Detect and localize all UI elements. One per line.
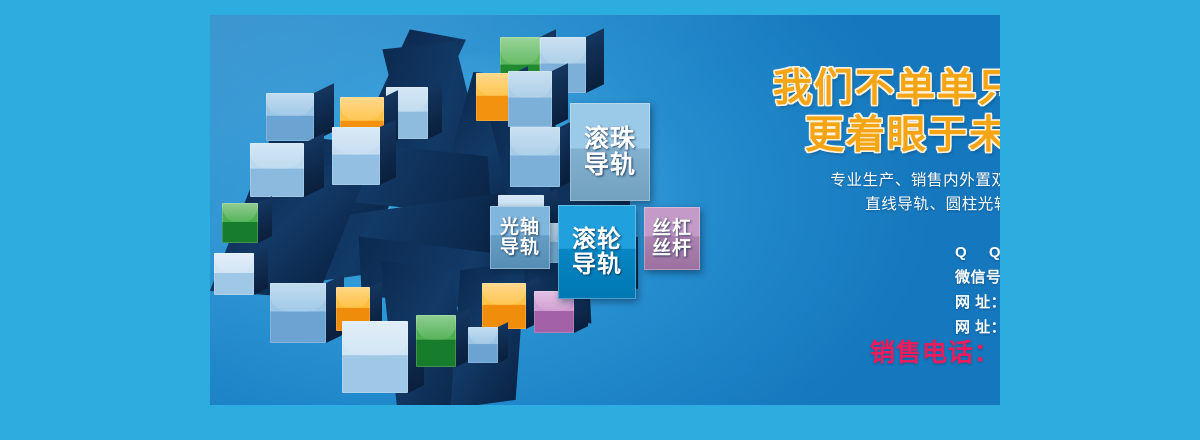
product-tile-label-line-1: 丝杠 (652, 219, 692, 239)
cube-side-face (258, 196, 272, 243)
cube-blue-11 (510, 127, 560, 187)
product-tile-optical-axis-guide[interactable]: 光轴导轨 (490, 206, 550, 269)
contact-row: 网 址：Www.Zxdgzc.Com (955, 291, 1000, 312)
cube-gloss (250, 143, 304, 169)
product-tile-label: 光轴导轨 (500, 218, 540, 258)
contact-row-key: Q Q ： (955, 241, 1000, 262)
product-tile-rolling-ball-guide[interactable]: 滚珠导轨 (570, 103, 650, 201)
sales-phone: 销售电话： 18357860469 (870, 333, 1000, 369)
description-block: 专业生产、销售内外置双轴心滚轮直线导轨、 滚珠直线导轨、圆柱光轴导轨、丝杠丝杆、… (830, 169, 1000, 241)
cube-side-face (428, 80, 442, 139)
contact-row-key: 微信号： (955, 266, 1000, 287)
product-tile-label-line-2: 导轨 (584, 152, 636, 178)
product-tile-label-line-2: 导轨 (572, 252, 622, 277)
cube-side-face (498, 322, 508, 363)
product-tile-label: 滚珠导轨 (584, 126, 636, 179)
description-line-1: 专业生产、销售内外置双轴心滚轮直线导轨、 (830, 172, 1000, 189)
cube-green-2 (222, 203, 258, 243)
cube-side-face (314, 83, 334, 141)
cube-side-face (380, 119, 396, 185)
cube-gloss (342, 321, 408, 356)
cube-side-face (304, 133, 324, 197)
cube-blue-8 (270, 283, 326, 343)
headline-line-1: 我们不单单只做您目前的订单 (773, 65, 1000, 112)
contact-row: 微信号：zxdgzc（直线导轨轴承） (955, 266, 1000, 287)
cube-blue-9 (342, 321, 408, 393)
cube-blue-3 (266, 93, 314, 141)
cube-gloss (270, 283, 326, 312)
cube-gloss (510, 127, 560, 156)
copy-column: 我们不单单只做您目前的订单 更着眼于未来与您长期合作 专业生产、销售内外置双轴心… (750, 45, 1000, 395)
exploding-cube-graphic: 滚珠导轨光轴导轨滚轮导轨丝杠丝杆 (210, 15, 640, 405)
contact-row: Q Q ：80286553 (955, 241, 1000, 262)
product-tile-label: 滚轮导轨 (572, 227, 622, 277)
cube-blue-6 (332, 127, 380, 185)
cube-side-face (586, 28, 604, 93)
headline-line-2: 更着眼于未来与您长期合作 (805, 112, 1000, 159)
cube-gloss (508, 71, 552, 98)
cube-blue-5 (508, 71, 552, 127)
cube-gloss (332, 127, 380, 155)
product-tile-label-line-1: 光轴 (500, 218, 540, 238)
product-tile-label-line-2: 丝杆 (652, 239, 692, 259)
cube-gloss (500, 37, 540, 65)
cube-gloss (340, 97, 384, 121)
product-tile-label-line-1: 滚轮 (572, 227, 622, 252)
banner-panel: 滚珠导轨光轴导轨滚轮导轨丝杠丝杆 我们不单单只做您目前的订单 更着眼于未来与您长… (210, 15, 1000, 405)
contact-block: Q Q ：80286553微信号：zxdgzc（直线导轨轴承）网 址：Www.Z… (955, 241, 1000, 341)
cube-blue-10 (468, 327, 498, 363)
cube-blue-4 (250, 143, 304, 197)
cube-gloss (540, 37, 586, 64)
sales-phone-label: 销售电话： (870, 333, 1000, 369)
cube-side-face (552, 63, 568, 127)
product-tile-roller-guide[interactable]: 滚轮导轨 (558, 205, 636, 299)
product-tile-label: 丝杠丝杆 (652, 219, 692, 259)
promo-banner: 滚珠导轨光轴导轨滚轮导轨丝杠丝杆 我们不单单只做您目前的订单 更着眼于未来与您长… (0, 0, 1200, 440)
product-tile-label-line-1: 滚珠 (584, 126, 636, 152)
description-line-3: 线轴承等。 (830, 217, 1000, 241)
cube-orange-4 (482, 283, 526, 329)
product-tile-screw-rod[interactable]: 丝杠丝杆 (644, 207, 700, 270)
cube-green-3 (416, 315, 456, 367)
contact-row-key: 网 址： (955, 291, 1000, 312)
cube-gloss (416, 315, 456, 340)
cube-side-face (254, 246, 268, 295)
cube-blue-7 (214, 253, 254, 295)
product-tile-label-line-2: 导轨 (500, 238, 540, 258)
